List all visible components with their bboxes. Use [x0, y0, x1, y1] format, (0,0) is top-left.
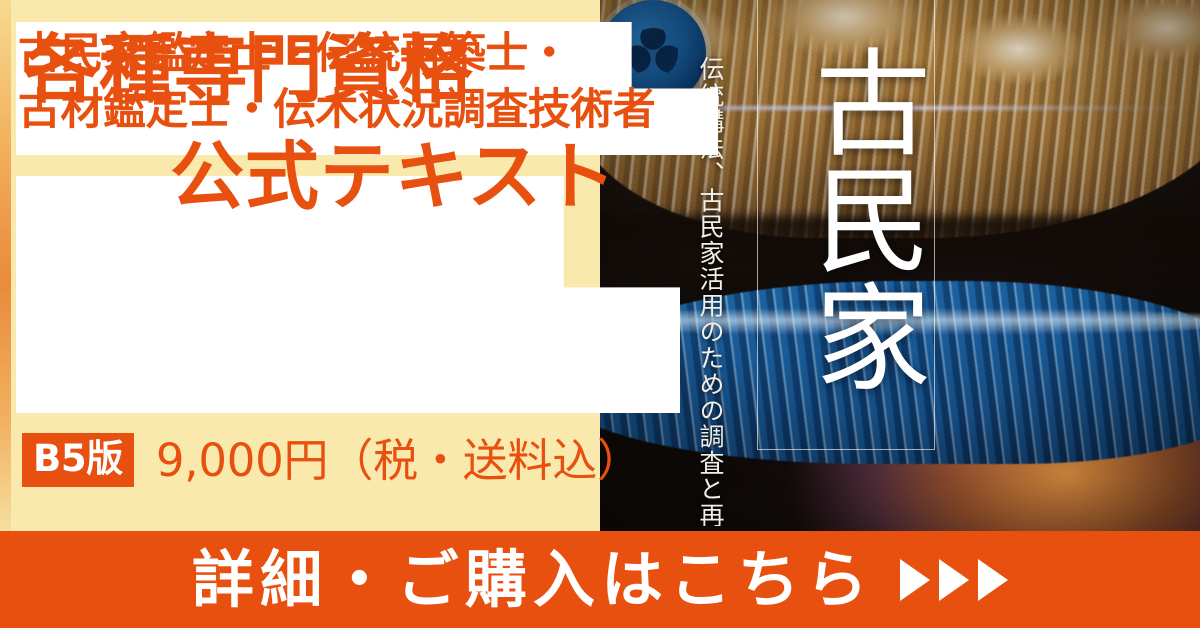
promo-banner: 古民家 伝統構法、古民家活用のための調査と再生の 古民家鑑定士・伝統再築士・ 古… — [0, 0, 1200, 628]
cta-arrow-group — [900, 559, 1008, 601]
cta-bar[interactable]: 詳細・ご購入はこちら — [0, 531, 1200, 628]
headline-line-2: 公式テキスト — [170, 140, 617, 214]
size-badge: B5版 — [22, 433, 134, 487]
cta-label: 詳細・ご購入はこちら — [192, 549, 874, 611]
triangle-right-icon — [900, 559, 930, 601]
book-cover-photo: 古民家 伝統構法、古民家活用のための調査と再生の — [600, 0, 1200, 540]
left-edge-gradient-strip — [0, 0, 11, 540]
price-row: B5版 9,000円（税・送料込） — [22, 428, 642, 492]
headline-line-1: 各種専門資格 — [24, 33, 473, 107]
triangle-right-icon — [939, 559, 969, 601]
book-cover-title: 古民家 — [760, 4, 930, 434]
triangle-right-icon — [978, 559, 1008, 601]
price-amount: 9,000円（税・送料込） — [156, 438, 642, 483]
